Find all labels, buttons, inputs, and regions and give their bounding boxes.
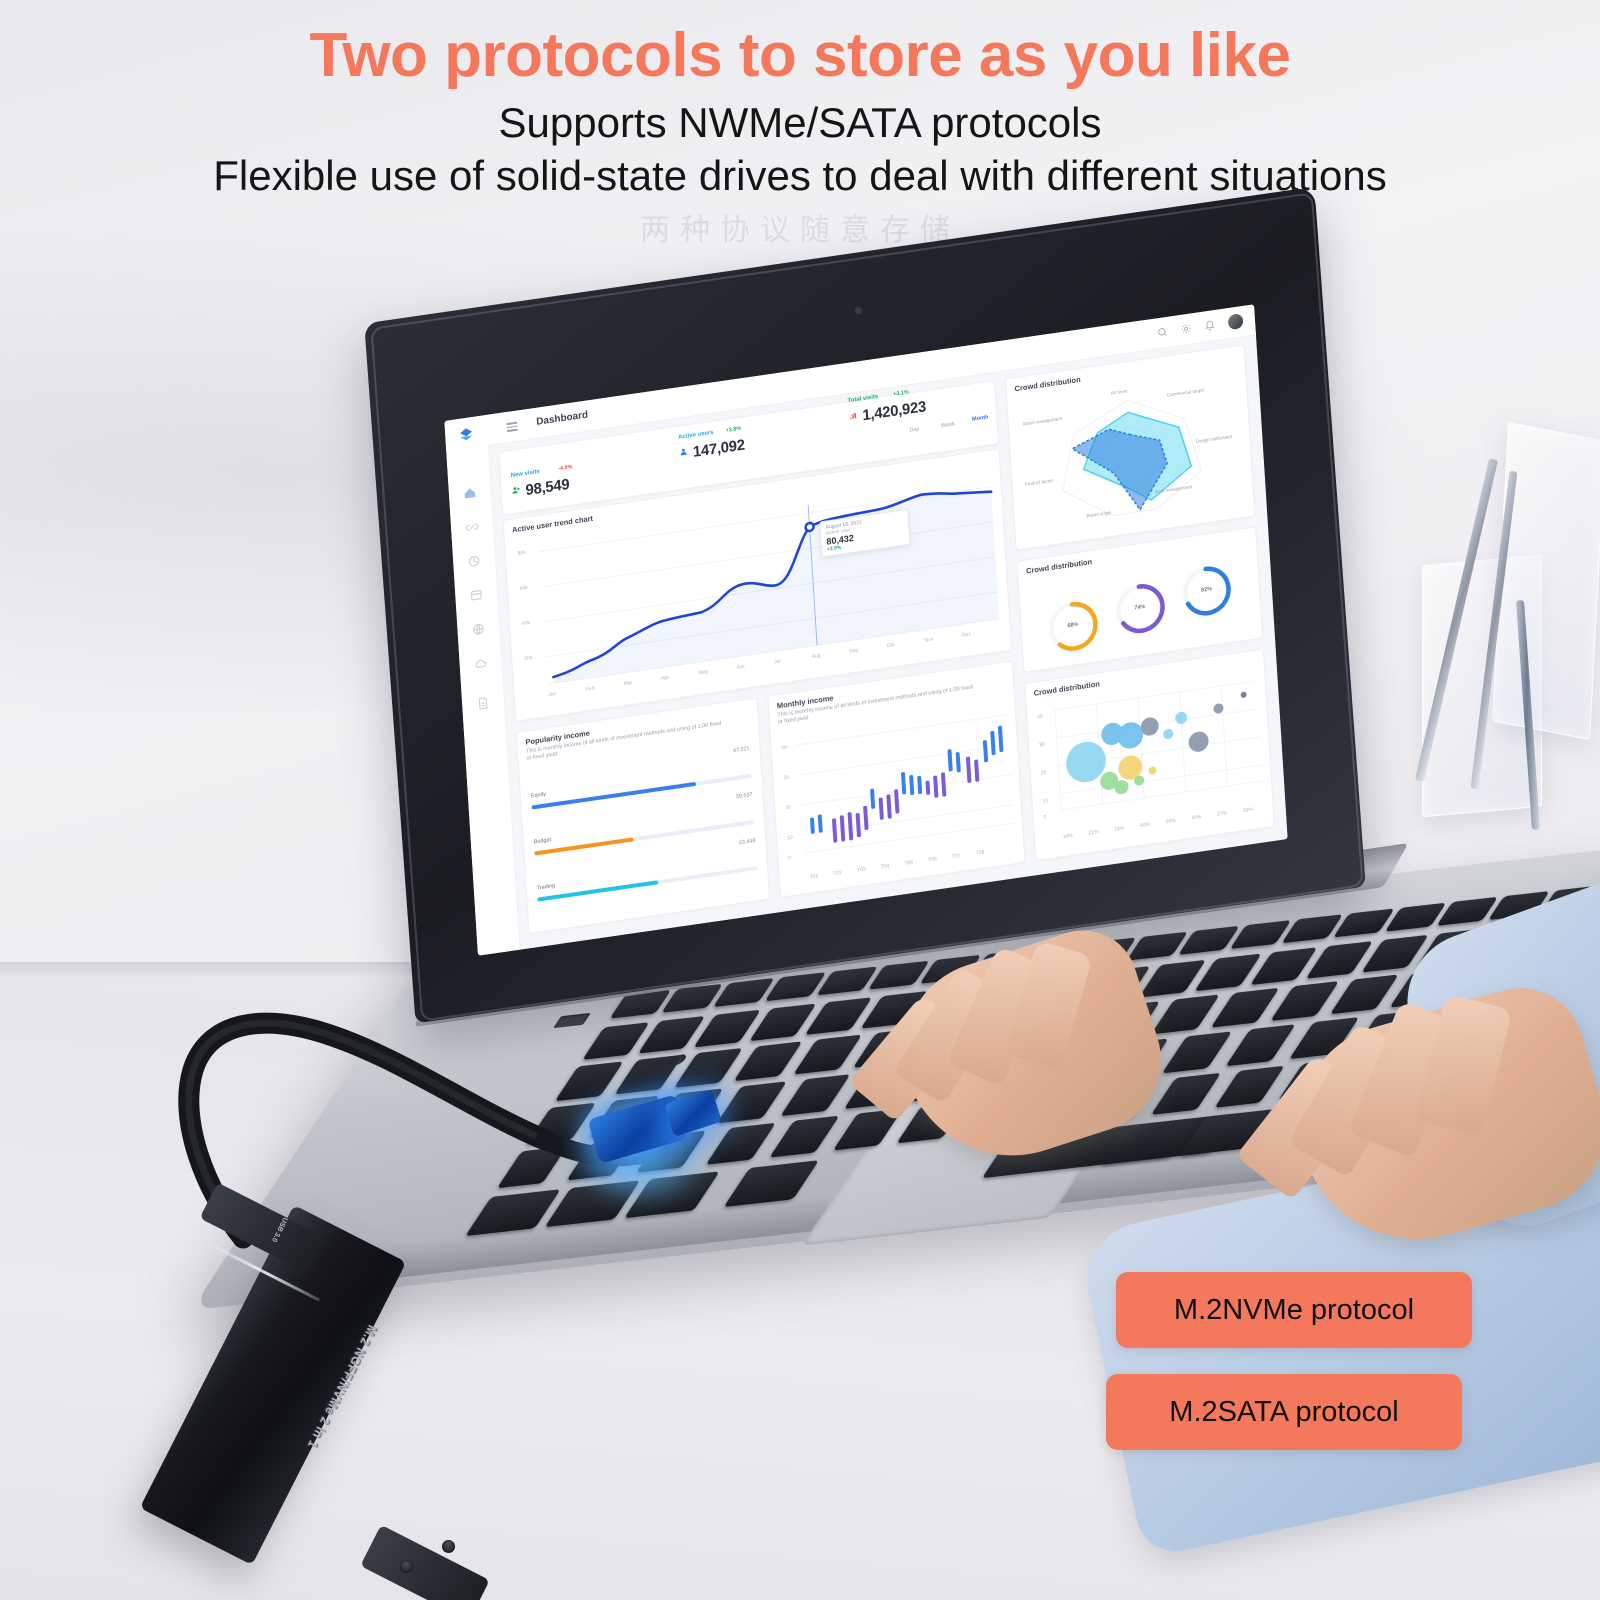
watermark-text: 两种协议随意存储 xyxy=(0,205,1600,249)
search-icon[interactable] xyxy=(1157,326,1169,339)
radar-card: Crowd distribution Art lover Commercial … xyxy=(1005,344,1255,551)
header-actions xyxy=(1156,313,1243,340)
bar-chart-svg xyxy=(775,706,1019,872)
chart-up-icon xyxy=(848,410,857,420)
bar-chart-card: Monthly income This is monthly income of… xyxy=(767,660,1025,898)
key[interactable] xyxy=(868,961,930,990)
bubble-card: Crowd distribution xyxy=(1024,648,1275,861)
user-icon xyxy=(679,447,688,457)
key[interactable] xyxy=(816,966,878,995)
key[interactable] xyxy=(1385,903,1447,932)
bell-icon[interactable] xyxy=(1204,319,1216,332)
bubble-chart-svg xyxy=(1030,670,1268,829)
key[interactable] xyxy=(1211,988,1280,1028)
user-plus-icon xyxy=(511,485,520,495)
holder-ruler xyxy=(1492,422,1600,740)
key[interactable] xyxy=(1250,947,1317,985)
key[interactable] xyxy=(1178,926,1240,955)
sidebar-item-doc[interactable] xyxy=(476,695,491,711)
sidebar-item-layers[interactable] xyxy=(469,587,484,603)
key[interactable] xyxy=(793,1035,862,1075)
app-title: Dashboard xyxy=(536,409,588,427)
sidebar-item-link[interactable] xyxy=(465,519,480,535)
sidebar-item-home[interactable] xyxy=(463,485,478,501)
key[interactable] xyxy=(1151,994,1220,1034)
key[interactable] xyxy=(1306,941,1373,979)
ssd-cap-top xyxy=(200,1182,327,1273)
menu-icon[interactable] xyxy=(506,422,517,432)
key[interactable] xyxy=(1330,974,1399,1014)
progress-card: Popularity income This is monthly income… xyxy=(516,697,770,934)
badge-sata: M.2SATA protocol xyxy=(1106,1374,1462,1450)
key[interactable] xyxy=(1270,981,1339,1021)
radar-chart-svg xyxy=(1037,370,1224,538)
progress-fill-3 xyxy=(537,880,658,901)
sidebar-item-cloud[interactable] xyxy=(473,655,488,671)
key[interactable] xyxy=(1214,1066,1284,1108)
ssd-body xyxy=(140,1205,407,1565)
key[interactable] xyxy=(1281,914,1343,943)
key[interactable] xyxy=(780,1074,850,1116)
key[interactable] xyxy=(1151,1073,1221,1115)
key[interactable] xyxy=(805,997,872,1035)
key[interactable] xyxy=(1126,932,1188,961)
subheadline-secondary: Flexible use of solid-state drives to de… xyxy=(0,152,1600,200)
avatar[interactable] xyxy=(1228,313,1244,330)
key[interactable] xyxy=(1230,920,1292,949)
gear-icon[interactable] xyxy=(1180,322,1192,335)
key[interactable] xyxy=(1225,1024,1295,1066)
badge-nvme: M.2NVMe protocol xyxy=(1116,1272,1472,1348)
ssd-cap-bottom xyxy=(360,1525,490,1600)
sidebar-item-chart[interactable] xyxy=(467,553,482,569)
key[interactable] xyxy=(1162,1031,1232,1073)
ssd-enclosure: USB 3.0 M.2 NGFF/NVMe 2 in 1 xyxy=(150,980,790,1600)
key[interactable] xyxy=(1194,954,1261,992)
screw-2 xyxy=(440,1538,457,1555)
gauge-card: Crowd distribution 68% 74% 82% xyxy=(1016,526,1263,673)
product-banner: Two protocols to store as you like Suppo… xyxy=(0,0,1600,1600)
page-title: Two protocols to store as you like xyxy=(0,20,1600,91)
key[interactable] xyxy=(1139,960,1206,998)
logo-mark xyxy=(458,426,475,444)
key[interactable] xyxy=(1436,897,1498,926)
subheadline-primary: Supports NWMe/SATA protocols xyxy=(0,99,1600,147)
key[interactable] xyxy=(1333,908,1395,937)
progress-fill-1 xyxy=(531,782,696,810)
sidebar-item-globe[interactable] xyxy=(471,621,486,637)
